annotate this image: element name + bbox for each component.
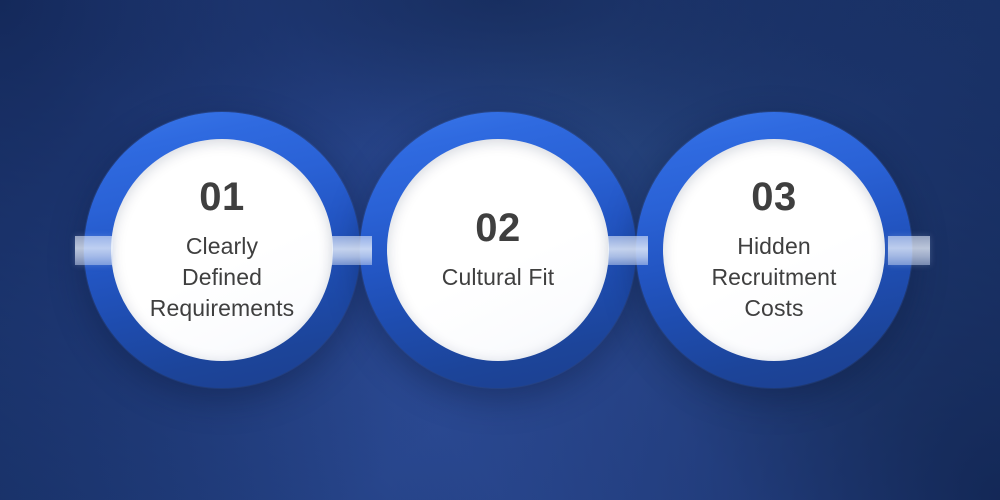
step-label-1: Clearly Defined Requirements [150, 231, 294, 324]
step-circle-2[interactable]: 02 Cultural Fit [360, 112, 636, 388]
infographic-canvas: 01 Clearly Defined Requirements 02 Cultu… [0, 0, 1000, 500]
connector-bar-2-3 [608, 236, 648, 265]
step-label-2: Cultural Fit [442, 262, 554, 293]
step-number-2: 02 [475, 208, 521, 248]
connector-stub-left [75, 236, 113, 265]
step-circle-3[interactable]: 03 Hidden Recruitment Costs [636, 112, 912, 388]
step-number-1: 01 [199, 177, 245, 217]
step-disc-3: 03 Hidden Recruitment Costs [663, 139, 885, 361]
step-label-3: Hidden Recruitment Costs [711, 231, 836, 324]
step-disc-2: 02 Cultural Fit [387, 139, 609, 361]
step-disc-1: 01 Clearly Defined Requirements [111, 139, 333, 361]
connector-stub-right [888, 236, 930, 265]
step-circle-1[interactable]: 01 Clearly Defined Requirements [84, 112, 360, 388]
step-number-3: 03 [751, 177, 797, 217]
connector-bar-1-2 [332, 236, 372, 265]
